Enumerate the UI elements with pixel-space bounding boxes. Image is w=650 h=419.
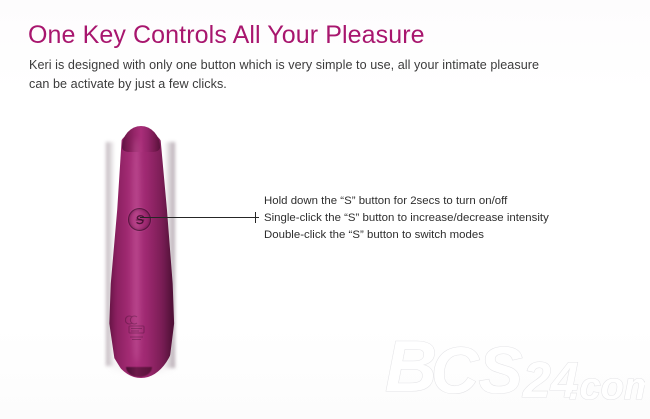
subtitle-line-1: Keri is designed with only one button wh… <box>29 56 629 75</box>
s-glyph-icon <box>134 214 146 226</box>
compliance-marks-engraving <box>125 312 151 342</box>
product-right-edge-shading <box>164 142 175 368</box>
power-s-button-icon <box>128 208 151 231</box>
callout-item-single-click: Single-click the “S” button to increase/… <box>264 210 549 227</box>
leader-line <box>140 217 259 218</box>
page-subtitle: Keri is designed with only one button wh… <box>29 56 629 93</box>
callout-item-hold: Hold down the “S” button for 2secs to tu… <box>264 193 549 210</box>
product-feature-page: One Key Controls All Your Pleasure Keri … <box>0 0 650 419</box>
watermark-letters-cs: CS <box>431 333 523 407</box>
product-top-cap <box>122 126 160 152</box>
subtitle-line-2: can be activate by just a few clicks. <box>29 75 629 94</box>
watermark-tld: .com <box>569 366 645 408</box>
callout-list: Hold down the “S” button for 2secs to tu… <box>264 193 549 244</box>
product-image <box>98 124 188 386</box>
watermark-number-24: 24 <box>522 352 579 408</box>
leader-line-tick <box>255 212 256 223</box>
watermark-letter-b: B <box>385 327 437 407</box>
page-title: One Key Controls All Your Pleasure <box>28 21 425 50</box>
site-watermark: B CS 24 .com <box>383 327 645 409</box>
product-left-edge-shading <box>106 142 115 366</box>
callout-item-double-click: Double-click the “S” button to switch mo… <box>264 227 549 244</box>
